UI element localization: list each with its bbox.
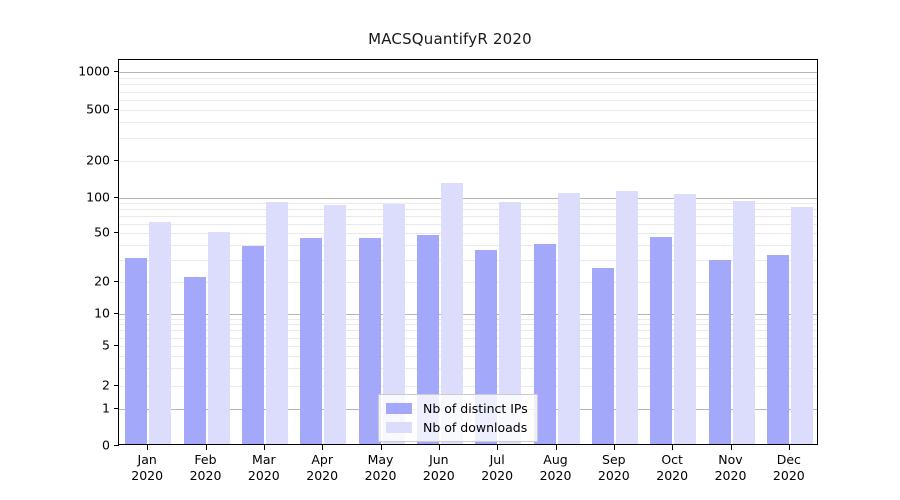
y-tick-mark [114,313,119,314]
legend-label-distinct-ips: Nb of distinct IPs [423,401,528,416]
x-tick-mark [614,445,615,450]
plot-area [118,59,818,445]
bar-dec-distinct-ips [767,255,789,444]
bar-jan-distinct-ips [125,258,147,444]
bar-nov-distinct-ips [709,260,731,444]
bar-jan-downloads [149,222,171,444]
bar-sep-downloads [616,191,638,444]
chart-legend[interactable]: Nb of distinct IPs Nb of downloads [378,394,538,442]
x-tick-mark [264,445,265,450]
x-tick-mark [439,445,440,450]
x-tick-mark [322,445,323,450]
legend-swatch-distinct-ips [386,403,412,414]
y-tick-label: 5 [64,338,110,353]
y-tick-mark [114,445,119,446]
bar-mar-distinct-ips [242,246,264,444]
bar-sep-distinct-ips [592,268,614,444]
y-axis: 01251020501002005001000 [58,0,110,500]
y-tick-label: 10 [64,306,110,321]
x-tick-mark [672,445,673,450]
x-tick-month: Dec [744,452,834,468]
x-tick-label-dec: Dec2020 [744,452,834,484]
x-tick-mark [381,445,382,450]
legend-item-downloads[interactable]: Nb of downloads [386,419,528,436]
y-tick-label: 200 [64,153,110,168]
bar-apr-distinct-ips [300,238,322,444]
y-tick-mark [114,160,119,161]
y-tick-label: 1 [64,401,110,416]
x-tick-mark [147,445,148,450]
bar-feb-downloads [208,232,230,444]
y-tick-mark [114,197,119,198]
bar-oct-distinct-ips [650,237,672,444]
bar-aug-downloads [558,193,580,444]
legend-swatch-downloads [386,422,412,433]
y-tick-label: 20 [64,274,110,289]
y-tick-mark [114,71,119,72]
x-tick-mark [731,445,732,450]
y-tick-label: 50 [64,225,110,240]
bar-mar-downloads [266,202,288,444]
bar-nov-downloads [733,201,755,444]
x-tick-mark [556,445,557,450]
y-tick-mark [114,345,119,346]
x-tick-mark [789,445,790,450]
legend-item-distinct-ips[interactable]: Nb of distinct IPs [386,400,528,417]
bar-apr-downloads [324,205,346,444]
y-tick-mark [114,408,119,409]
y-tick-label: 1000 [64,64,110,79]
chart-title: MACSQuantifyR 2020 [0,30,900,48]
y-tick-mark [114,281,119,282]
bars-layer [119,60,817,444]
x-tick-year: 2020 [744,468,834,484]
y-tick-label: 2 [64,378,110,393]
bar-dec-downloads [791,207,813,444]
bar-oct-downloads [674,194,696,444]
y-tick-mark [114,232,119,233]
legend-label-downloads: Nb of downloads [423,420,527,435]
x-tick-mark [206,445,207,450]
y-tick-label: 0 [64,438,110,453]
y-tick-mark [114,385,119,386]
y-tick-label: 100 [64,190,110,205]
y-tick-label: 500 [64,102,110,117]
chart-figure: MACSQuantifyR 2020 012510205010020050010… [0,0,900,500]
y-tick-mark [114,109,119,110]
bar-feb-distinct-ips [184,277,206,444]
x-tick-mark [497,445,498,450]
